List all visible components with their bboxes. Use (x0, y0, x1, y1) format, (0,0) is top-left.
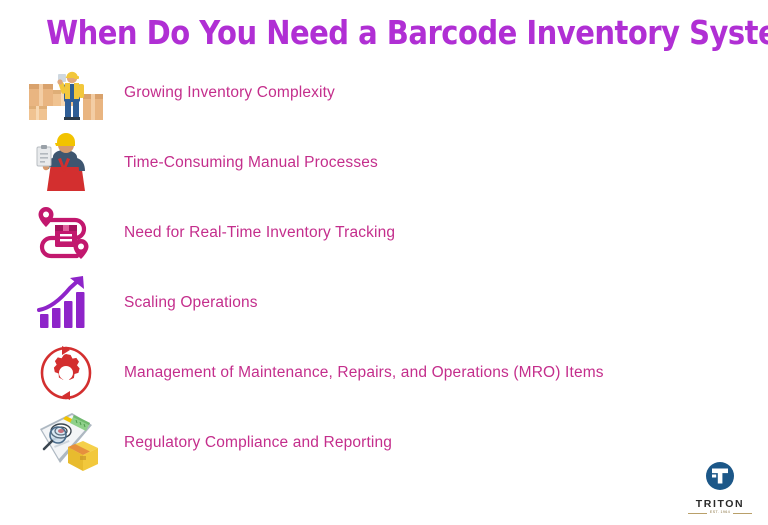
list-item-label: Need for Real-Time Inventory Tracking (124, 224, 395, 242)
list-item-label: Regulatory Compliance and Reporting (124, 434, 392, 452)
reasons-list: Growing Inventory Complexity (0, 58, 768, 478)
list-item: Time-Consuming Manual Processes (24, 128, 768, 198)
list-item: Regulatory Compliance and Reporting (24, 408, 768, 478)
logo-rule-left (688, 513, 707, 514)
infographic-canvas: When Do You Need a Barcode Inventory Sys… (0, 0, 768, 525)
growth-bar-chart-arrow-icon (24, 271, 108, 335)
gear-refresh-icon (24, 341, 108, 405)
worker-clipboard-icon (24, 131, 108, 195)
triton-t-emblem-icon (688, 461, 752, 496)
list-item-label: Management of Maintenance, Repairs, and … (124, 364, 604, 382)
list-item-label: Scaling Operations (124, 294, 258, 312)
list-item-label: Growing Inventory Complexity (124, 84, 335, 102)
list-item: Need for Real-Time Inventory Tracking (24, 198, 768, 268)
logo-established-text: EST. 1964 (710, 511, 730, 515)
page-title: When Do You Need a Barcode Inventory Sys… (46, 14, 722, 52)
list-item: Scaling Operations (24, 268, 768, 338)
logo-wordmark: TRITON (688, 499, 752, 510)
logo-rule-right (733, 513, 752, 514)
location-pins-route-package-icon (24, 201, 108, 265)
list-item-label: Time-Consuming Manual Processes (124, 154, 378, 172)
list-item: Growing Inventory Complexity (24, 58, 768, 128)
clipboard-inspection-package-icon (24, 411, 108, 475)
warehouse-worker-boxes-icon (24, 61, 108, 125)
page-title-container: When Do You Need a Barcode Inventory Sys… (0, 0, 768, 58)
list-item: Management of Maintenance, Repairs, and … (24, 338, 768, 408)
logo-established-row: EST. 1964 (688, 511, 752, 515)
company-logo: TRITON EST. 1964 (688, 461, 752, 515)
